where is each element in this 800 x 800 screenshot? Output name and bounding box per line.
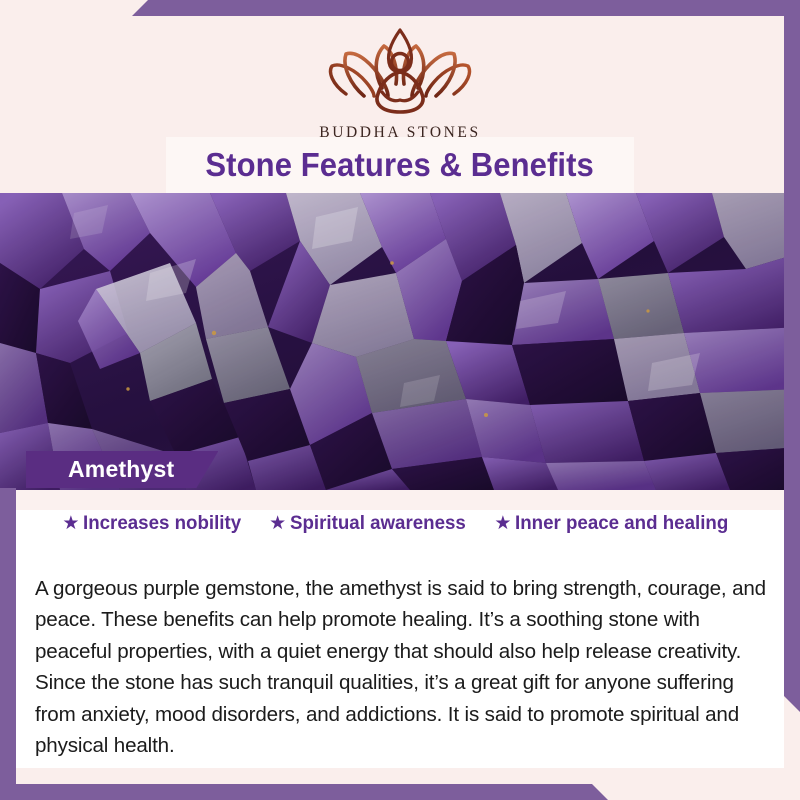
frame-accent-right bbox=[784, 0, 800, 712]
star-icon: ★ bbox=[269, 514, 286, 533]
page-title: Stone Features & Benefits bbox=[206, 146, 594, 184]
amethyst-crystal-cluster-graphic bbox=[0, 193, 800, 490]
benefit-label: Inner peace and healing bbox=[515, 512, 728, 535]
stone-name-banner: Amethyst bbox=[26, 451, 218, 488]
stone-name: Amethyst bbox=[68, 456, 174, 483]
content-panel: ★ Increases nobility ★ Spiritual awarene… bbox=[16, 490, 784, 768]
benefit-item: ★ Inner peace and healing bbox=[494, 512, 737, 535]
stone-description: A gorgeous purple gemstone, the amethyst… bbox=[35, 573, 771, 762]
star-icon: ★ bbox=[494, 514, 511, 533]
star-icon: ★ bbox=[62, 514, 79, 533]
page-title-band: Stone Features & Benefits bbox=[166, 137, 634, 193]
benefits-row: ★ Increases nobility ★ Spiritual awarene… bbox=[16, 512, 784, 535]
brand-logo: BUDDHA STONES bbox=[0, 22, 800, 142]
frame-accent-left bbox=[0, 488, 16, 800]
stone-info-card: BUDDHA STONES Stone Features & Benefits bbox=[0, 0, 800, 800]
frame-accent-top bbox=[0, 0, 800, 16]
benefit-item: ★ Increases nobility bbox=[62, 512, 248, 535]
benefit-label: Increases nobility bbox=[83, 512, 241, 535]
lotus-meditating-figure-icon bbox=[316, 22, 484, 122]
benefit-item: ★ Spiritual awareness bbox=[269, 512, 473, 535]
amethyst-hero-image bbox=[0, 193, 800, 490]
content-top-tint bbox=[16, 490, 784, 510]
benefit-label: Spiritual awareness bbox=[290, 512, 466, 535]
